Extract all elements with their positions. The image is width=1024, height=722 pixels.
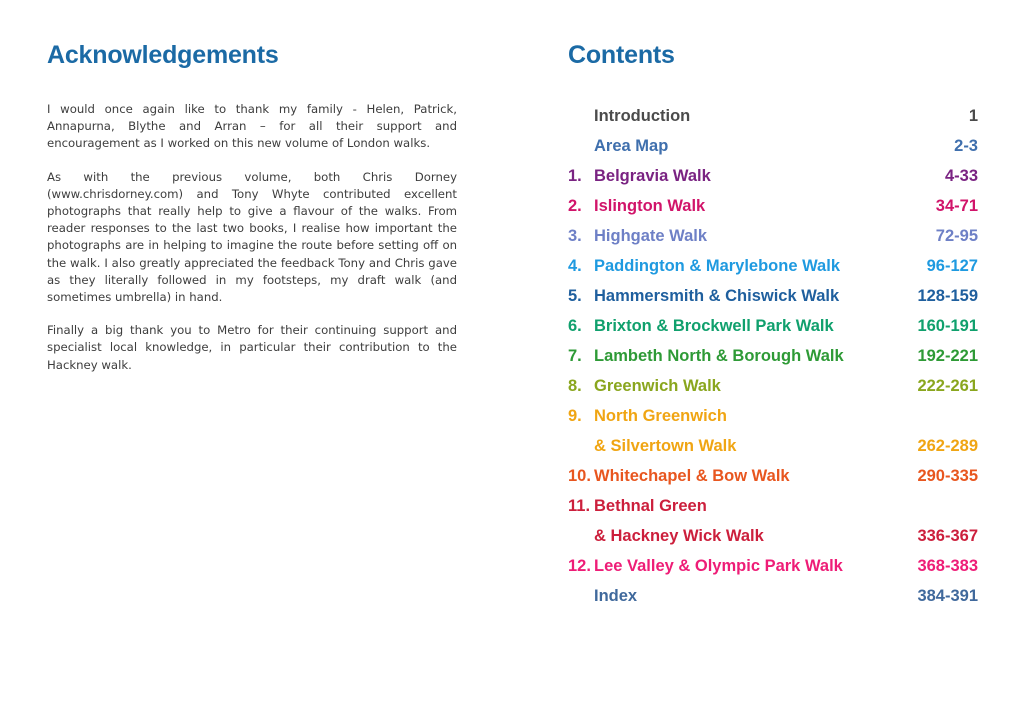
toc-dot-leader — [692, 105, 968, 122]
toc-entry-title: & Hackney Wick Walk — [594, 521, 766, 551]
toc-entry-pages: 222-261 — [916, 371, 978, 401]
toc-entry-pages: 336-367 — [916, 521, 978, 551]
toc-entry[interactable]: Introduction1 — [568, 101, 978, 131]
toc-dot-leader — [841, 285, 916, 302]
toc-entry-title: Bethnal Green — [594, 491, 709, 521]
toc-entry[interactable]: 3.Highgate Walk72-95 — [568, 221, 978, 251]
toc-entry[interactable]: 4.Paddington & Marylebone Walk96-127 — [568, 251, 978, 281]
toc-entry-number: 7. — [568, 341, 594, 371]
toc-entry-title: Introduction — [594, 101, 692, 131]
toc-dot-leader — [836, 315, 917, 332]
toc-entry-pages: 96-127 — [926, 251, 978, 281]
toc-entry[interactable]: Index384-391 — [568, 581, 978, 611]
toc-dot-leader — [723, 375, 917, 392]
acknowledgements-heading: Acknowledgements — [47, 43, 457, 68]
toc-entry-pages: 2-3 — [953, 131, 978, 161]
toc-dot-leader — [729, 405, 977, 422]
toc-entry[interactable]: 8.Greenwich Walk222-261 — [568, 371, 978, 401]
toc-entry[interactable]: 1.Belgravia Walk4-33 — [568, 161, 978, 191]
toc-entry-title: Index — [594, 581, 639, 611]
book-spread-page: Acknowledgements I would once again like… — [0, 0, 1024, 722]
toc-entry-pages: 128-159 — [916, 281, 978, 311]
toc-entry-pages: 262-289 — [916, 431, 978, 461]
toc-entry-number: 12. — [568, 551, 594, 581]
toc-entry-pages: 34-71 — [935, 191, 978, 221]
toc-dot-leader — [842, 255, 926, 272]
toc-entry[interactable]: 7.Lambeth North & Borough Walk192-221 — [568, 341, 978, 371]
toc-dot-leader — [670, 135, 953, 152]
toc-entry-number: 1. — [568, 161, 594, 191]
toc-entry-number: 4. — [568, 251, 594, 281]
toc-entry-number: 8. — [568, 371, 594, 401]
toc-entry-pages: 368-383 — [916, 551, 978, 581]
toc-dot-leader — [709, 495, 977, 512]
toc-dot-leader — [709, 225, 935, 242]
toc-entry-title: Belgravia Walk — [594, 161, 713, 191]
contents-column: Contents Introduction1Area Map2-31.Belgr… — [568, 0, 978, 611]
toc-entry-pages: 290-335 — [916, 461, 978, 491]
toc-entry[interactable]: 5.Hammersmith & Chiswick Walk128-159 — [568, 281, 978, 311]
toc-entry-pages: 1 — [968, 101, 978, 131]
toc-dot-leader — [707, 195, 935, 212]
toc-entry-title: Lambeth North & Borough Walk — [594, 341, 846, 371]
acknowledgements-paragraph: As with the previous volume, both Chris … — [47, 169, 457, 307]
toc-entry[interactable]: 6.Brixton & Brockwell Park Walk160-191 — [568, 311, 978, 341]
toc-entry-number: 6. — [568, 311, 594, 341]
toc-entry-pages: 384-391 — [916, 581, 978, 611]
contents-heading: Contents — [568, 43, 978, 68]
toc-entry-pages: 192-221 — [916, 341, 978, 371]
toc-entry-title: & Silvertown Walk — [594, 431, 738, 461]
toc-entry-title: Whitechapel & Bow Walk — [594, 461, 792, 491]
toc-entry-title: North Greenwich — [594, 401, 729, 431]
toc-entry-pages: 4-33 — [944, 161, 978, 191]
toc-entry[interactable]: & Silvertown Walk262-289 — [568, 431, 978, 461]
toc-entry-number: 9. — [568, 401, 594, 431]
toc-entry[interactable]: 12.Lee Valley & Olympic Park Walk368-383 — [568, 551, 978, 581]
toc-entry[interactable]: & Hackney Wick Walk336-367 — [568, 521, 978, 551]
acknowledgements-paragraph: Finally a big thank you to Metro for the… — [47, 322, 457, 374]
acknowledgements-body: I would once again like to thank my fami… — [47, 101, 457, 374]
acknowledgements-column: Acknowledgements I would once again like… — [47, 0, 457, 374]
toc-entry-title: Lee Valley & Olympic Park Walk — [594, 551, 845, 581]
toc-entry[interactable]: Area Map2-3 — [568, 131, 978, 161]
toc-entry-title: Brixton & Brockwell Park Walk — [594, 311, 836, 341]
table-of-contents: Introduction1Area Map2-31.Belgravia Walk… — [568, 101, 978, 611]
toc-dot-leader — [639, 585, 916, 602]
toc-entry-number: 2. — [568, 191, 594, 221]
toc-entry-number: 5. — [568, 281, 594, 311]
toc-entry-number: 11. — [568, 491, 594, 521]
toc-dot-leader — [846, 345, 917, 362]
toc-entry-pages: 72-95 — [935, 221, 978, 251]
toc-entry-title: Area Map — [594, 131, 670, 161]
toc-entry-title: Highgate Walk — [594, 221, 709, 251]
toc-entry-title: Hammersmith & Chiswick Walk — [594, 281, 841, 311]
toc-entry[interactable]: 10.Whitechapel & Bow Walk290-335 — [568, 461, 978, 491]
toc-dot-leader — [766, 525, 917, 542]
toc-entry[interactable]: 2.Islington Walk34-71 — [568, 191, 978, 221]
toc-entry-pages: 160-191 — [916, 311, 978, 341]
toc-entry-number: 3. — [568, 221, 594, 251]
toc-entry-title: Paddington & Marylebone Walk — [594, 251, 842, 281]
toc-dot-leader — [845, 555, 917, 572]
toc-dot-leader — [792, 465, 917, 482]
acknowledgements-paragraph: I would once again like to thank my fami… — [47, 101, 457, 153]
toc-entry[interactable]: 9.North Greenwich — [568, 401, 978, 431]
toc-entry-title: Islington Walk — [594, 191, 707, 221]
toc-entry-number: 10. — [568, 461, 594, 491]
toc-entry[interactable]: 11.Bethnal Green — [568, 491, 978, 521]
toc-dot-leader — [713, 165, 944, 182]
toc-entry-title: Greenwich Walk — [594, 371, 723, 401]
toc-dot-leader — [738, 435, 916, 452]
